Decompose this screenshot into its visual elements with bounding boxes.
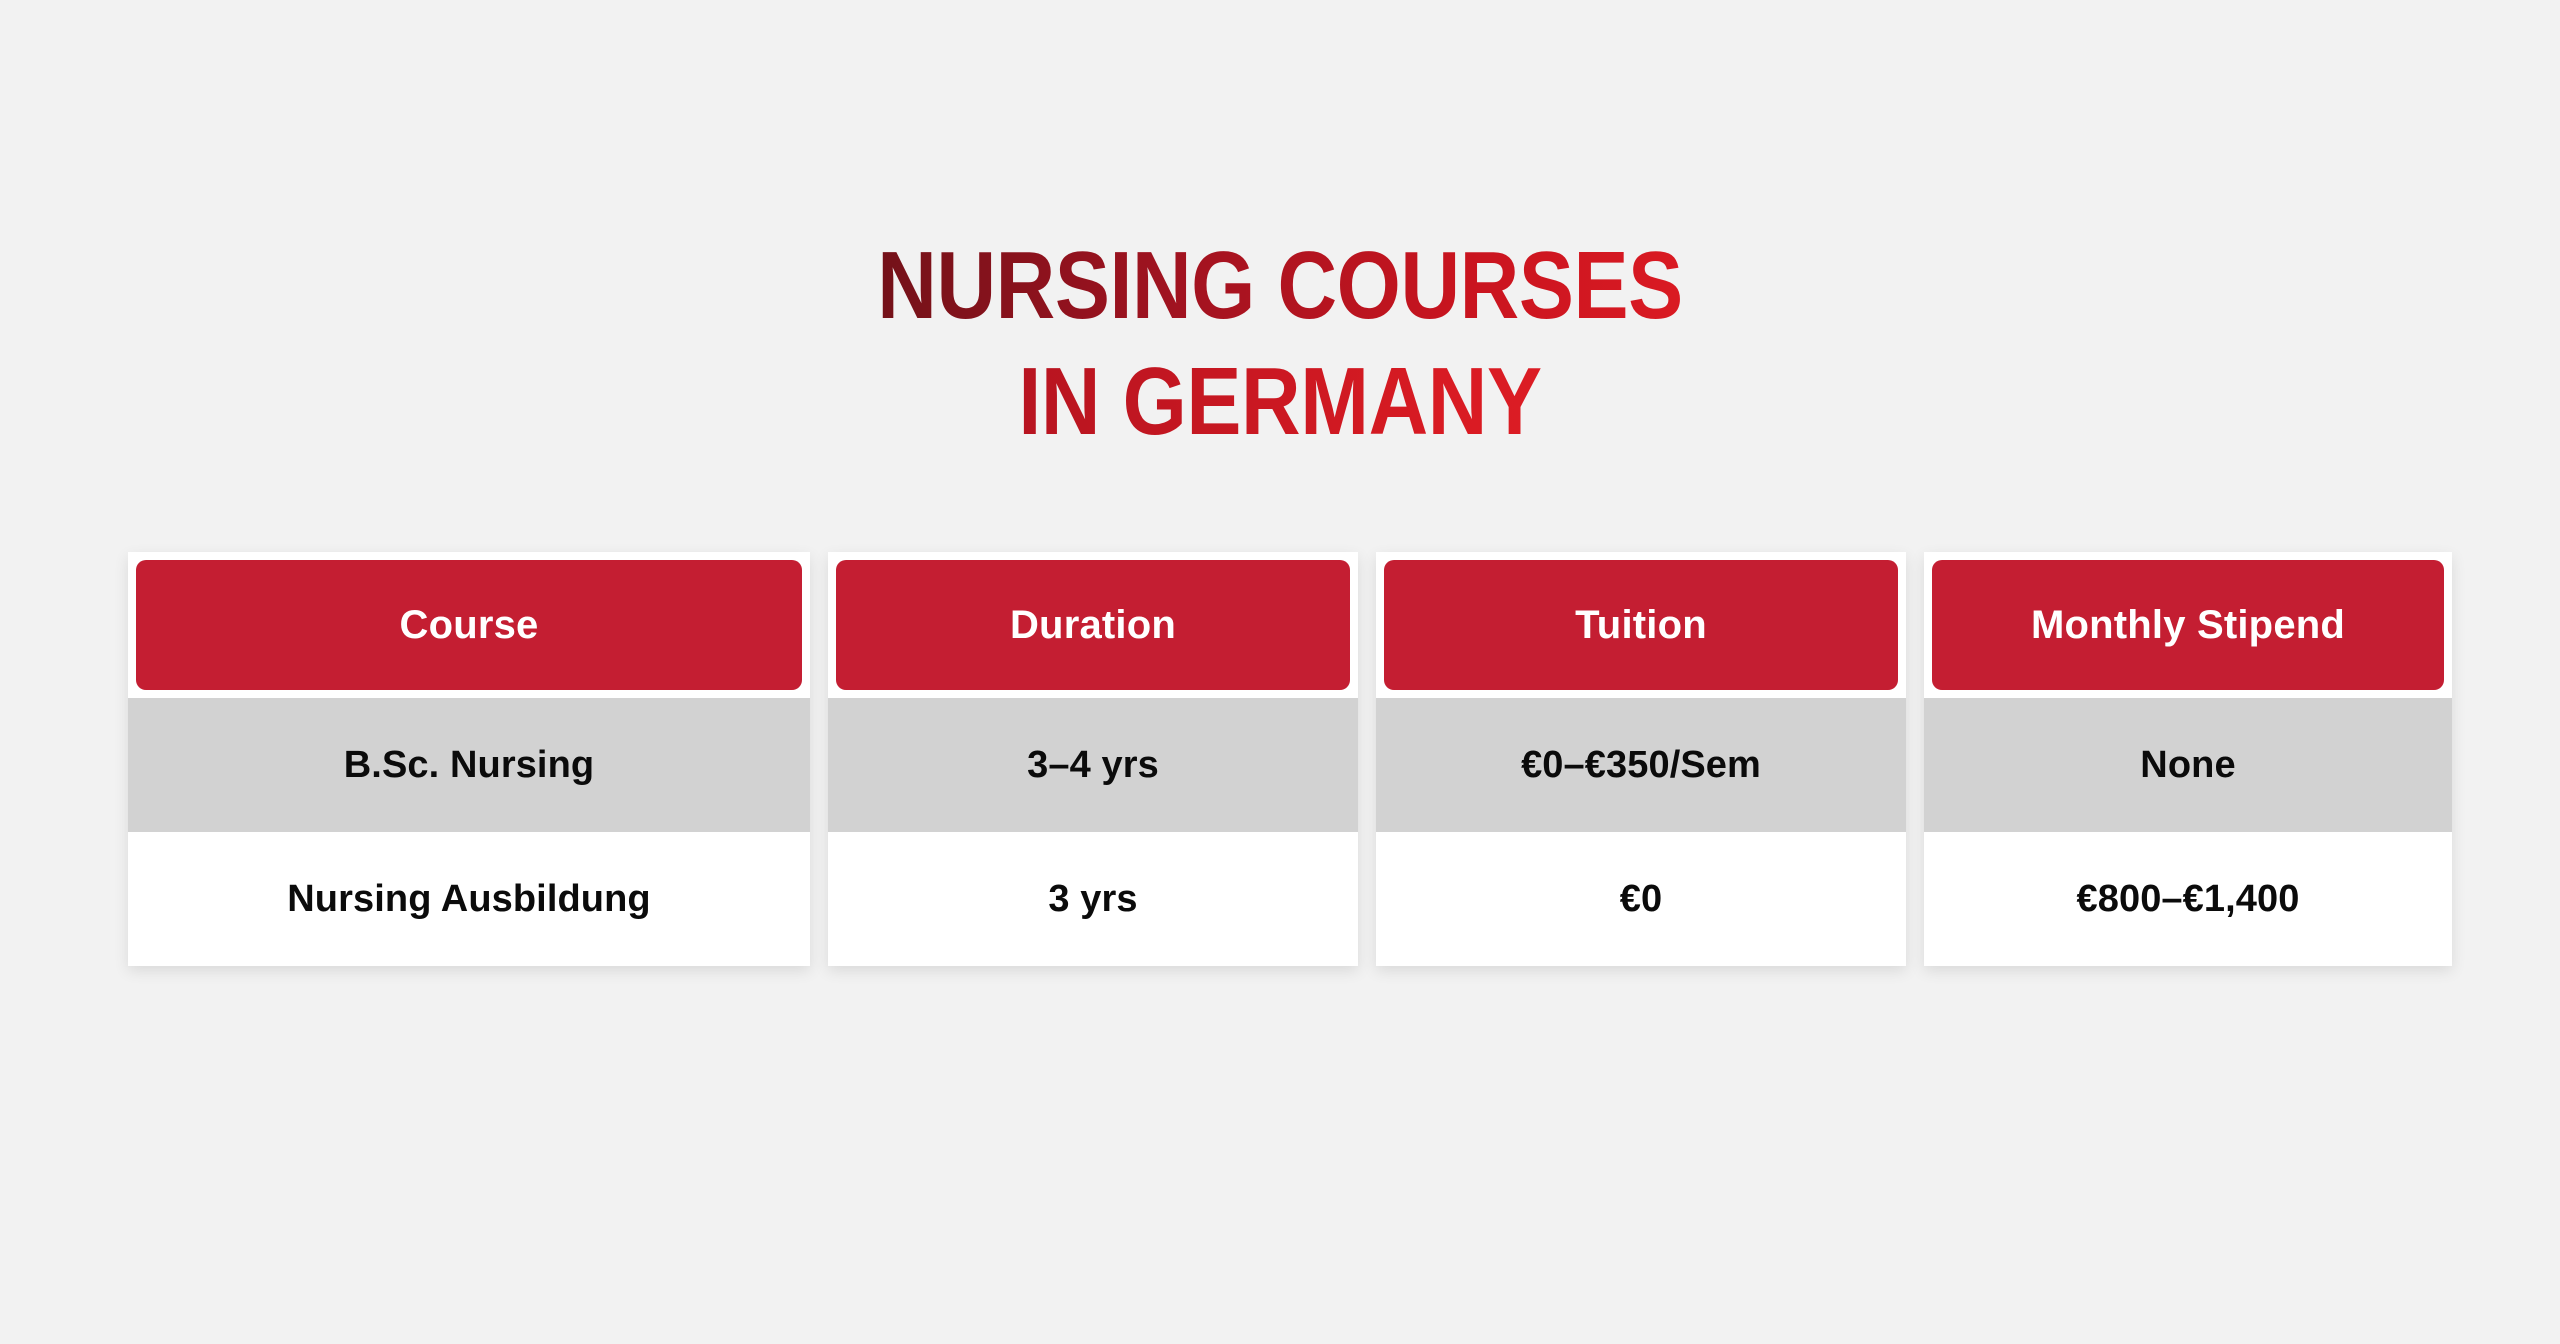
table-cell-monthly-stipend-row2: €800–€1,400 xyxy=(1924,832,2452,966)
table-column-tuition: Tuition €0–€350/Sem €0 xyxy=(1376,552,1906,966)
column-header-duration: Duration xyxy=(836,560,1350,690)
column-header-tuition: Tuition xyxy=(1384,560,1898,690)
column-header-course: Course xyxy=(136,560,802,690)
table-cell-monthly-stipend-row1: None xyxy=(1924,698,2452,832)
table-cell-course-row2: Nursing Ausbildung xyxy=(128,832,810,966)
table-cell-duration-row1: 3–4 yrs xyxy=(828,698,1358,832)
table-cell-tuition-row2: €0 xyxy=(1376,832,1906,966)
table-column-duration: Duration 3–4 yrs 3 yrs xyxy=(828,552,1358,966)
table-cell-duration-row2: 3 yrs xyxy=(828,832,1358,966)
course-comparison-table: Course B.Sc. Nursing Nursing Ausbildung … xyxy=(128,552,2434,966)
table-column-monthly-stipend: Monthly Stipend None €800–€1,400 xyxy=(1924,552,2452,966)
page-title-line-2: IN GERMANY xyxy=(179,344,2381,460)
table-cell-tuition-row1: €0–€350/Sem xyxy=(1376,698,1906,832)
page-title: NURSING COURSES IN GERMANY xyxy=(0,228,2560,460)
table-cell-course-row1: B.Sc. Nursing xyxy=(128,698,810,832)
column-header-monthly-stipend: Monthly Stipend xyxy=(1932,560,2444,690)
table-column-course: Course B.Sc. Nursing Nursing Ausbildung xyxy=(128,552,810,966)
page-title-line-1: NURSING COURSES xyxy=(179,228,2381,344)
